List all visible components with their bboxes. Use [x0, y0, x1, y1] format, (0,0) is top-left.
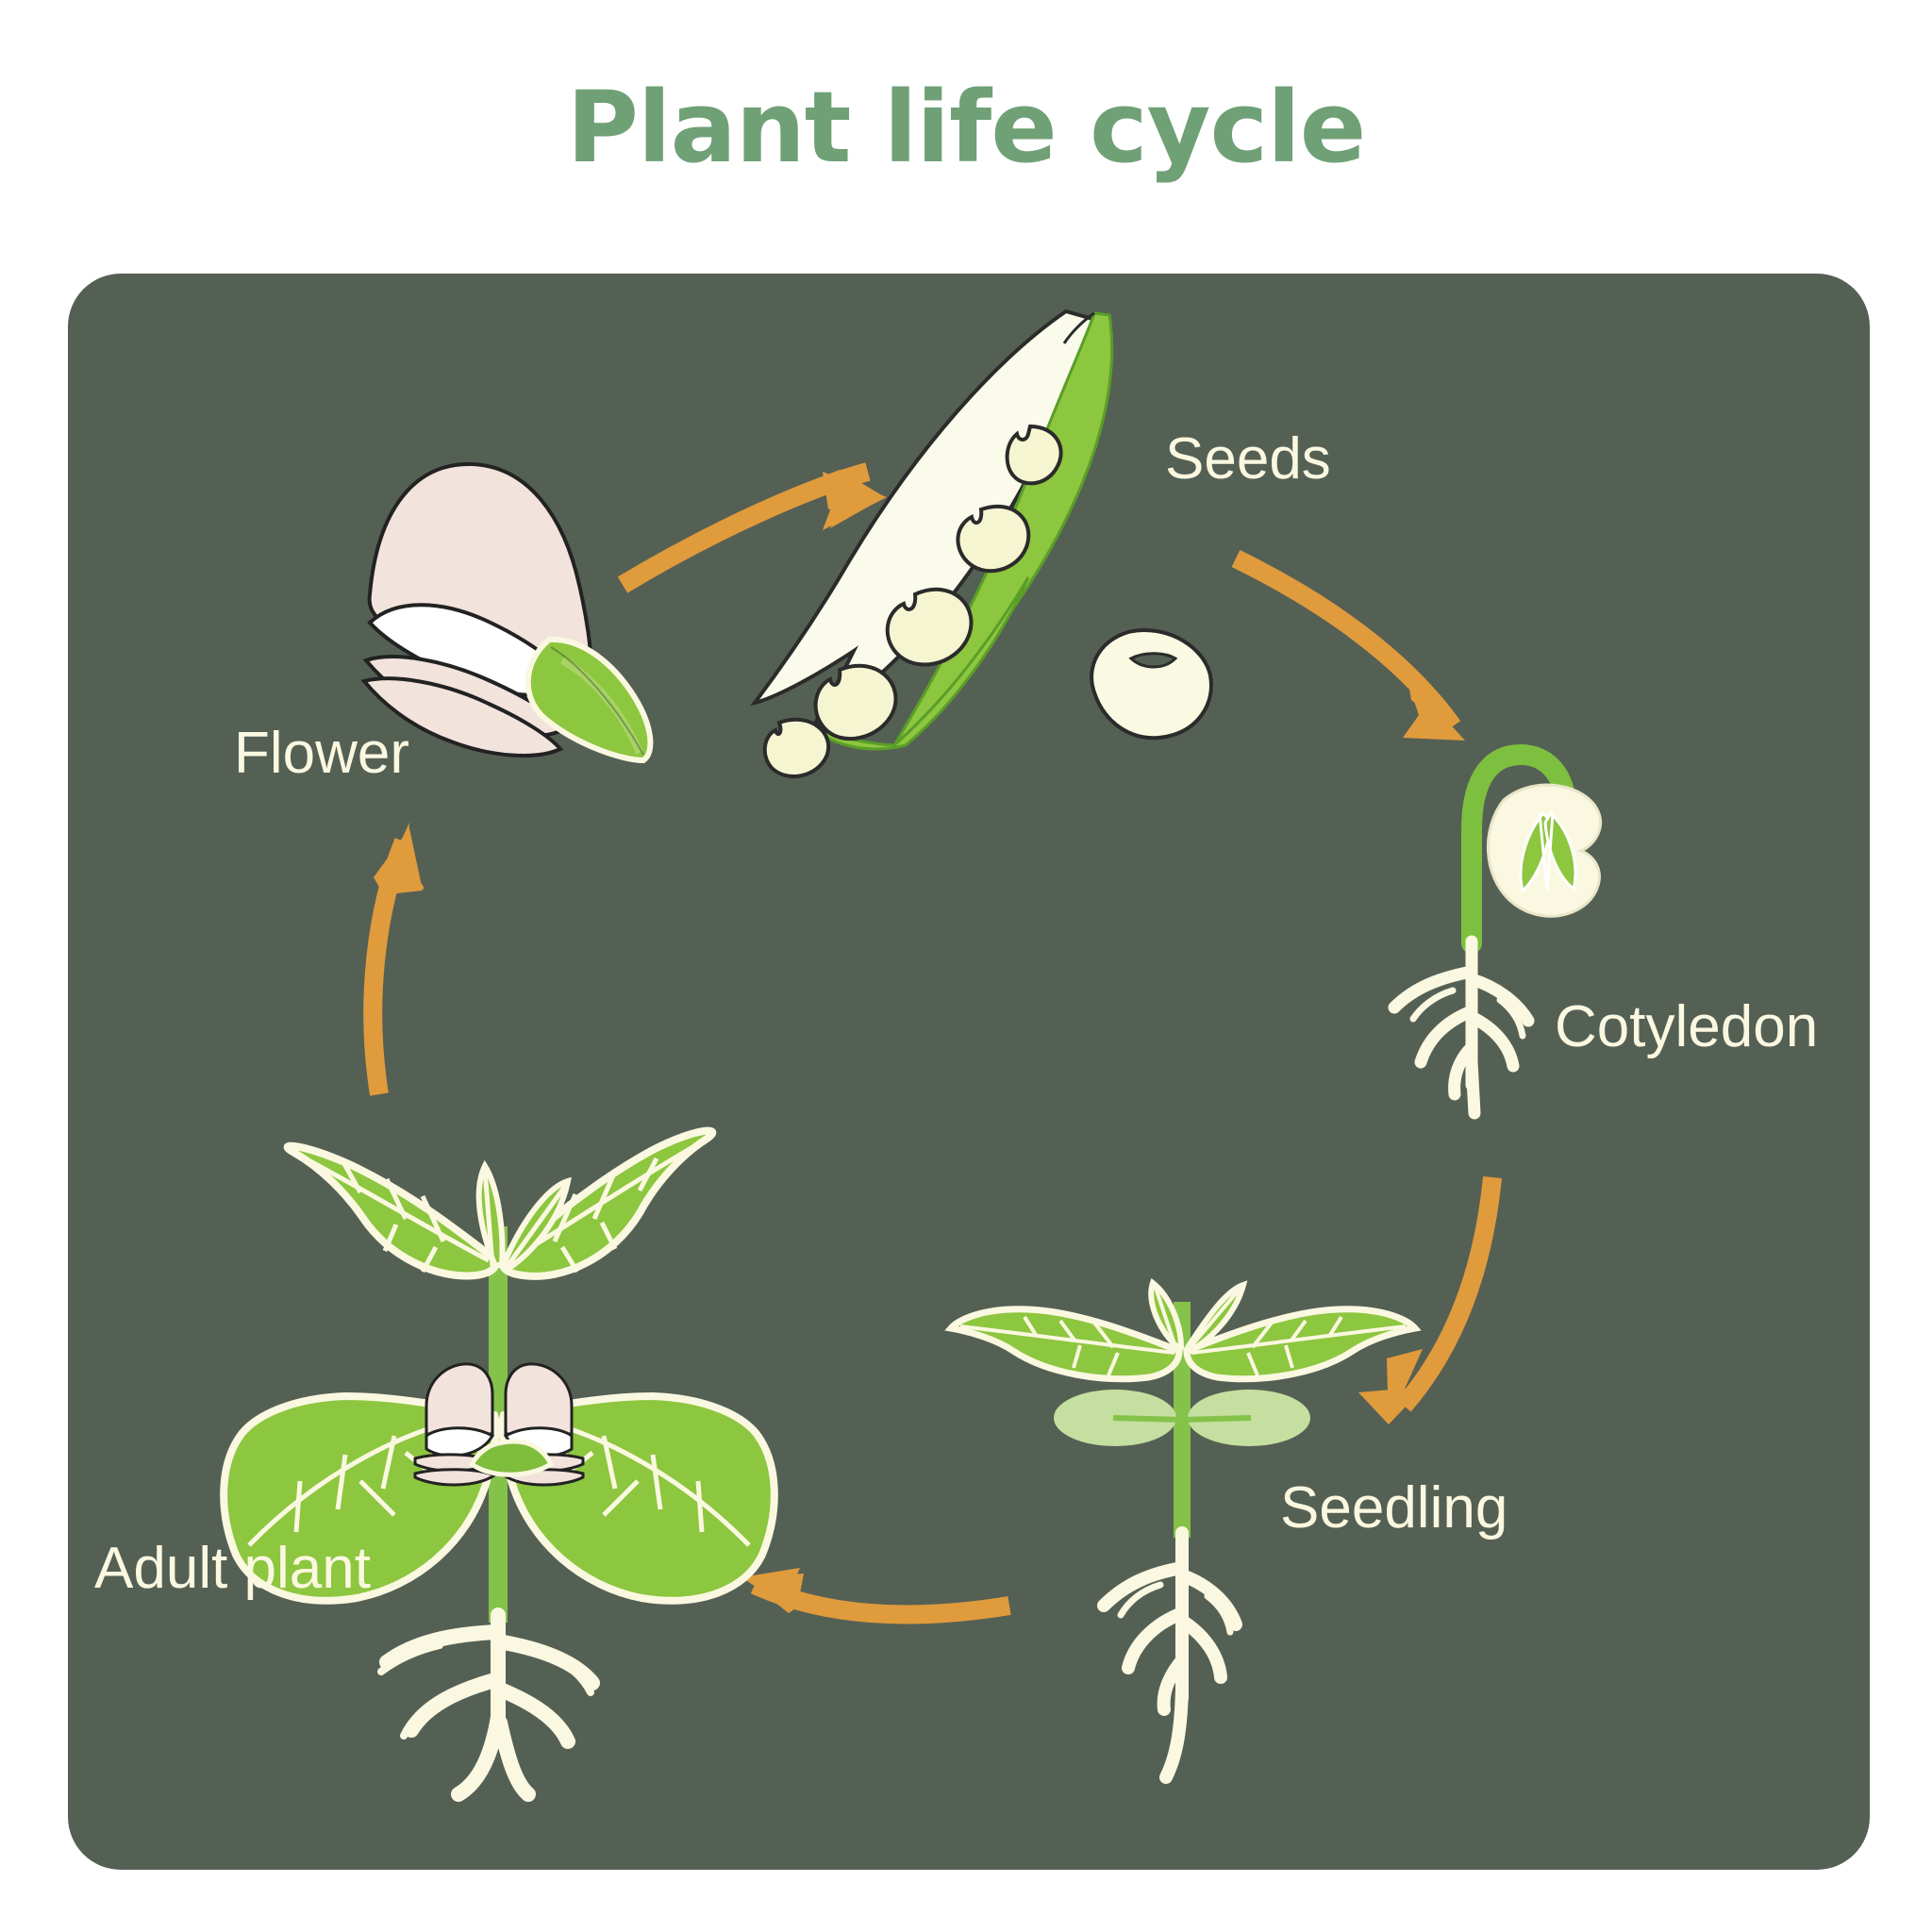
stage-label-seeds: Seeds — [1165, 430, 1331, 489]
stage-label-cotyledon: Cotyledon — [1555, 998, 1818, 1057]
page-title: Plant life cycle — [0, 74, 1932, 181]
stage-label-adult-plant: Adult plant — [94, 1540, 371, 1598]
stage-label-seedling: Seedling — [1280, 1479, 1507, 1538]
plant-life-cycle-infographic: Plant life cycle — [0, 0, 1932, 1932]
diagram-panel — [68, 274, 1870, 1870]
stage-label-flower: Flower — [234, 724, 409, 783]
